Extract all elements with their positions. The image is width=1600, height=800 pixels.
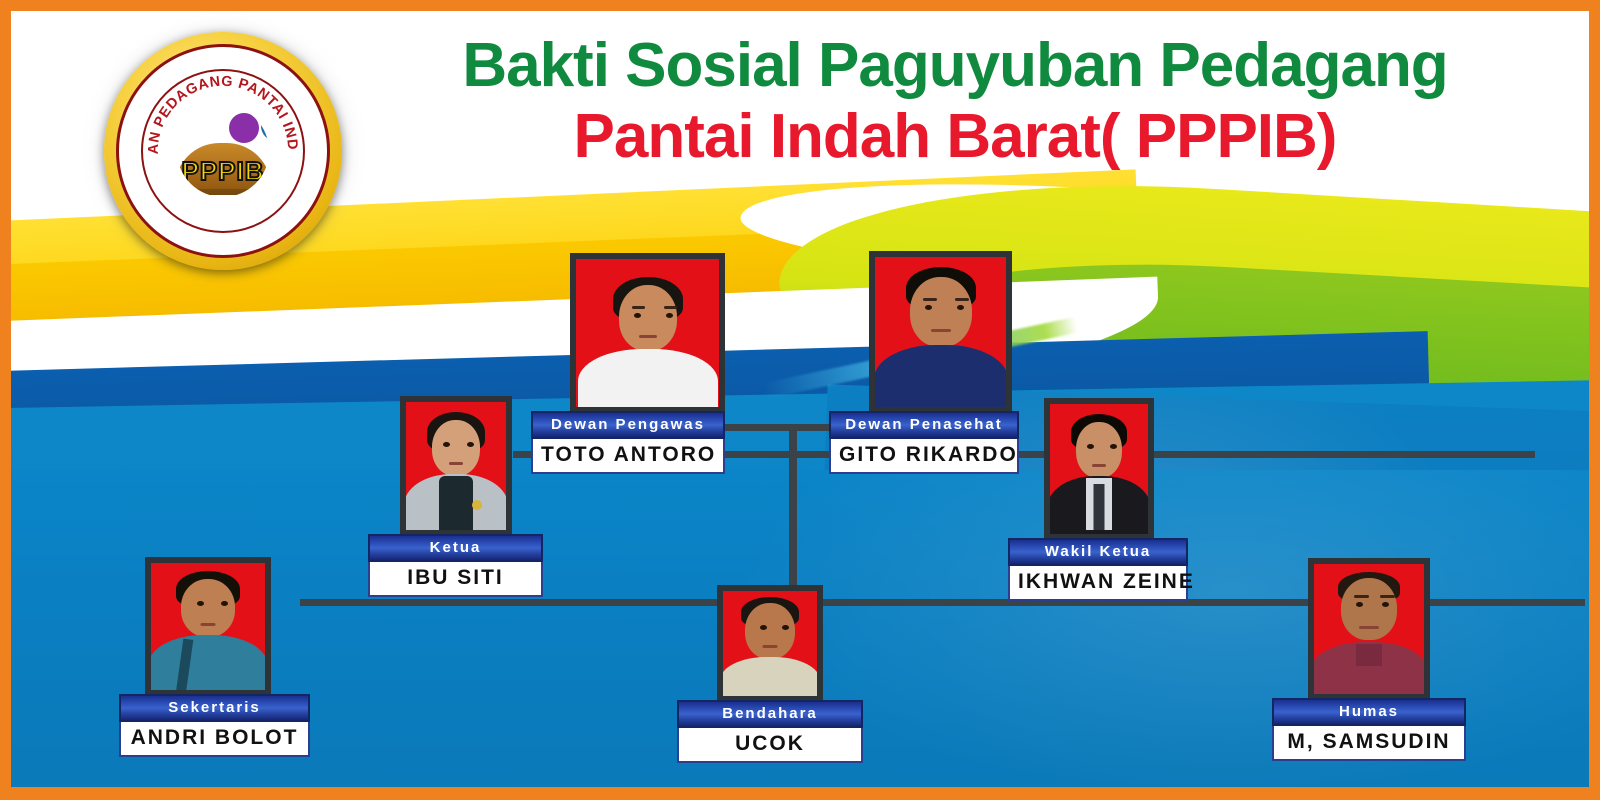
head-shape <box>619 285 677 351</box>
logo-outer-ring: P3IB PPPIB PAGUYUBAN PEDAGANG PANTAI IND… <box>104 32 342 270</box>
member-name: M, SAMSUDIN <box>1272 726 1466 761</box>
connector-vertical-trunk <box>789 424 797 588</box>
head-shape <box>432 420 480 476</box>
member-role: Bendahara <box>677 700 863 728</box>
brow-left <box>923 298 937 301</box>
polo-collar <box>1356 644 1382 666</box>
eye-right <box>1382 602 1389 607</box>
torso-shape <box>578 349 718 413</box>
member-label-dewan-pengawas: Dewan Pengawas TOTO ANTORO <box>531 411 725 474</box>
member-photo-humas <box>1308 558 1430 700</box>
member-role: Dewan Penasehat <box>829 411 1019 439</box>
banner-title: Bakti Sosial Paguyuban Pedagang Pantai I… <box>380 34 1530 170</box>
member-card-bendahara[interactable]: Bendahara UCOK <box>677 585 863 763</box>
mouth-shape <box>449 462 463 465</box>
member-card-wakil-ketua[interactable]: Wakil Ketua IKHWAN ZEINE <box>1008 398 1188 601</box>
eye-left <box>197 601 204 606</box>
eye-left <box>634 313 641 318</box>
member-name: TOTO ANTORO <box>531 439 725 474</box>
member-role: Sekertaris <box>119 694 310 722</box>
member-label-wakil-ketua: Wakil Ketua IKHWAN ZEINE <box>1008 538 1188 601</box>
mouth-shape <box>639 335 657 338</box>
member-name: IBU SITI <box>368 562 543 597</box>
mouth-shape <box>1359 626 1379 629</box>
eye-right <box>782 625 789 630</box>
eye-left <box>760 625 767 630</box>
brow-right <box>1380 595 1395 598</box>
member-label-humas: Humas M, SAMSUDIN <box>1272 698 1466 761</box>
head-shape <box>1076 422 1122 478</box>
eye-right <box>221 601 228 606</box>
brow-left <box>632 306 645 309</box>
member-label-sekertaris: Sekertaris ANDRI BOLOT <box>119 694 310 757</box>
eye-left <box>1356 602 1363 607</box>
torso-shape <box>720 657 820 702</box>
frame-border-top <box>0 0 1600 11</box>
torso-shape <box>874 345 1008 413</box>
member-label-bendahara: Bendahara UCOK <box>677 700 863 763</box>
organization-chart-banner: P3IB PPPIB PAGUYUBAN PEDAGANG PANTAI IND… <box>0 0 1600 800</box>
banner-title-line1: Bakti Sosial Paguyuban Pedagang <box>380 34 1530 98</box>
brow-right <box>955 298 969 301</box>
frame-border-bottom <box>0 787 1600 800</box>
head-shape <box>745 603 795 659</box>
eye-left <box>443 442 450 447</box>
member-label-ketua: Ketua IBU SITI <box>368 534 543 597</box>
member-role: Ketua <box>368 534 543 562</box>
eye-right <box>957 305 964 310</box>
mouth-shape <box>201 623 216 626</box>
logo-inner-ring: P3IB PPPIB PAGUYUBAN PEDAGANG PANTAI IND… <box>116 44 330 258</box>
member-photo-dewan-pengawas <box>570 253 725 413</box>
svg-text:PAGUYUBAN PEDAGANG PANTAI INDA: PAGUYUBAN PEDAGANG PANTAI INDAH BARAT <box>143 71 300 155</box>
member-card-ketua[interactable]: Ketua IBU SITI <box>368 396 543 597</box>
frame-border-right <box>1589 0 1600 800</box>
torso-shape <box>148 635 268 696</box>
member-photo-ketua <box>400 396 512 536</box>
mouth-shape <box>1092 464 1106 467</box>
blouse-pattern <box>439 476 473 536</box>
member-label-dewan-penasehat: Dewan Penasehat GITO RIKARDO <box>829 411 1019 474</box>
member-name: UCOK <box>677 728 863 763</box>
badge-pin <box>472 500 482 510</box>
eye-right <box>1110 444 1117 449</box>
mouth-shape <box>763 645 778 648</box>
head-shape <box>910 277 972 347</box>
member-card-dewan-pengawas[interactable]: Dewan Pengawas TOTO ANTORO <box>531 253 725 474</box>
member-name: ANDRI BOLOT <box>119 722 310 757</box>
member-name: IKHWAN ZEINE <box>1008 566 1188 601</box>
banner-title-line2: Pantai Indah Barat( PPPIB) <box>380 104 1530 170</box>
eye-right <box>467 442 474 447</box>
member-name: GITO RIKARDO <box>829 439 1019 474</box>
member-role: Wakil Ketua <box>1008 538 1188 566</box>
member-card-dewan-penasehat[interactable]: Dewan Penasehat GITO RIKARDO <box>829 251 1019 474</box>
member-photo-dewan-penasehat <box>869 251 1012 413</box>
frame-border-left <box>0 0 11 800</box>
head-shape <box>181 579 235 637</box>
brow-left <box>1354 595 1369 598</box>
eye-right <box>666 313 673 318</box>
member-role: Humas <box>1272 698 1466 726</box>
logo-circular-text: PAGUYUBAN PEDAGANG PANTAI INDAH BARAT <box>143 71 303 231</box>
member-role: Dewan Pengawas <box>531 411 725 439</box>
member-photo-wakil-ketua <box>1044 398 1154 540</box>
member-photo-sekertaris <box>145 557 271 696</box>
mouth-shape <box>931 329 951 332</box>
connector-stub-penasehat <box>793 424 831 431</box>
necktie <box>1094 484 1105 530</box>
head-shape <box>1341 578 1397 640</box>
eye-left <box>1087 444 1094 449</box>
member-card-humas[interactable]: Humas M, SAMSUDIN <box>1272 558 1466 761</box>
member-card-sekertaris[interactable]: Sekertaris ANDRI BOLOT <box>119 557 310 757</box>
organization-logo: P3IB PPPIB PAGUYUBAN PEDAGANG PANTAI IND… <box>86 24 362 276</box>
eye-left <box>925 305 932 310</box>
member-photo-bendahara <box>717 585 823 702</box>
logo-inner-ring-2: P3IB PPPIB PAGUYUBAN PEDAGANG PANTAI IND… <box>141 69 305 233</box>
brow-right <box>664 306 677 309</box>
